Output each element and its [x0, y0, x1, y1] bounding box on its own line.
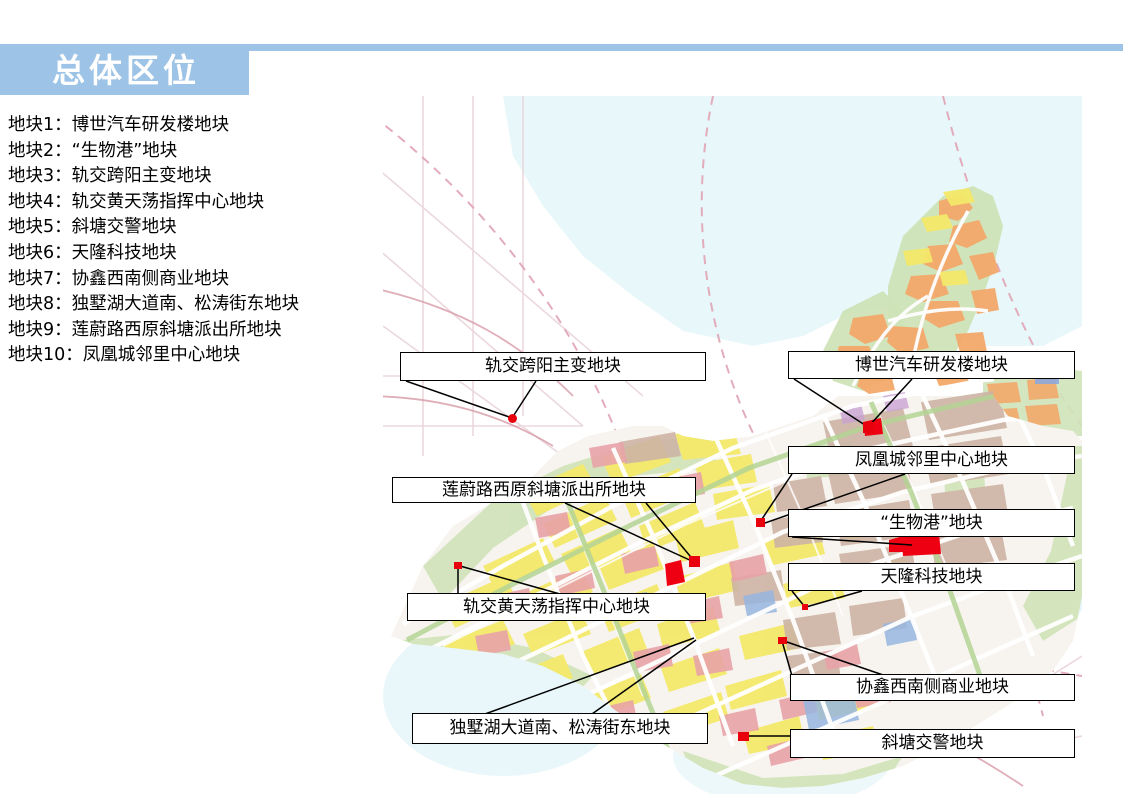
list-item: 地块8：独墅湖大道南、松涛街东地块 [8, 292, 380, 318]
list-item: 地块9：莲蔚路西原斜塘派出所地块 [8, 318, 380, 344]
callout-xietang[interactable]: 斜塘交警地块 [790, 729, 1075, 758]
callout-dushuhu[interactable]: 独墅湖大道南、松涛街东地块 [412, 713, 708, 744]
callout-xiexin[interactable]: 协鑫西南侧商业地块 [790, 674, 1075, 701]
callout-shengwugang[interactable]: “生物港”地块 [788, 509, 1075, 537]
marker-guijiao-kuayang [508, 414, 517, 423]
callout-huangtiandang[interactable]: 轨交黄天荡指挥中心地块 [407, 593, 706, 621]
callout-tianlong[interactable]: 天隆科技地块 [788, 563, 1075, 591]
callout-bosch[interactable]: 博世汽车研发楼地块 [788, 351, 1075, 379]
list-item: 地块5：斜塘交警地块 [8, 215, 380, 241]
list-item: 地块6：天隆科技地块 [8, 241, 380, 267]
page-title: 总体区位 [52, 49, 252, 93]
marker-tianlong [802, 604, 808, 610]
marker-xiexin [778, 637, 787, 644]
list-item: 地块1：博世汽车研发楼地块 [8, 113, 380, 139]
callout-lianweilu[interactable]: 莲蔚路西原斜塘派出所地块 [392, 477, 696, 503]
plot-list: 地块1：博世汽车研发楼地块 地块2：“生物港”地块 地块3：轨交跨阳主变地块 地… [8, 113, 380, 369]
list-item: 地块2：“生物港”地块 [8, 139, 380, 165]
list-item: 地块4：轨交黄天荡指挥中心地块 [8, 190, 380, 216]
list-item: 地块7：协鑫西南侧商业地块 [8, 267, 380, 293]
list-item: 地块10：凤凰城邻里中心地块 [8, 343, 380, 369]
callout-fenghuangcheng[interactable]: 凤凰城邻里中心地块 [788, 446, 1075, 474]
marker-xietang [738, 732, 749, 741]
slide-canvas: 总体区位 地块1：博世汽车研发楼地块 地块2：“生物港”地块 地块3：轨交跨阳主… [0, 0, 1123, 794]
marker-bosch [863, 422, 874, 433]
callout-guijiao-kuayang[interactable]: 轨交跨阳主变地块 [400, 352, 706, 381]
marker-fenghuangcheng [756, 518, 765, 527]
list-item: 地块3：轨交跨阳主变地块 [8, 164, 380, 190]
marker-lianweilu [689, 556, 700, 567]
marker-huangtiandang [454, 562, 462, 569]
